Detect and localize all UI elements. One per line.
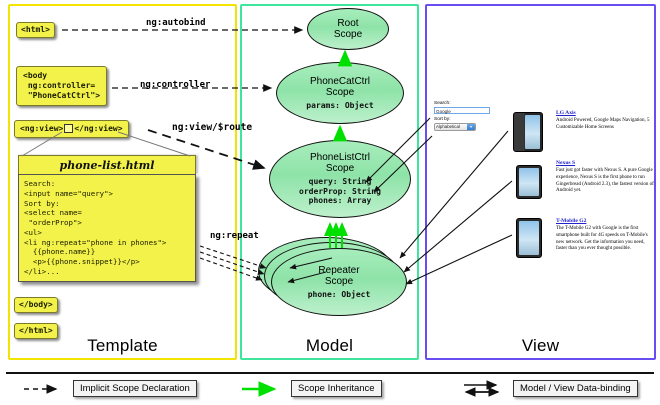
column-label-template: Template xyxy=(10,336,235,356)
phone-snippet: The T-Mobile G2 with Google is the first… xyxy=(556,226,654,253)
legend-green-arrow-icon xyxy=(240,383,284,395)
scope-repeater-title: Repeater Scope xyxy=(318,265,359,287)
phone-thumbnail-1 xyxy=(513,112,543,152)
search-label: Search: xyxy=(434,100,496,107)
tag-ng-view: <ng:view></ng:view> xyxy=(14,120,129,138)
tag-ng-view-open: <ng:view> xyxy=(20,124,63,133)
sort-label: Sort by: xyxy=(434,116,496,123)
phone-snippet: Android Powered, Google Maps Navigation,… xyxy=(556,118,654,132)
legend-label-inheritance: Scope Inheritance xyxy=(291,380,382,397)
tag-body-close: </body> xyxy=(14,297,58,313)
list-item: LG Axis Android Powered, Google Maps Nav… xyxy=(556,110,654,132)
legend: Implicit Scope Declaration Scope Inherit… xyxy=(0,372,660,405)
scope-repeater: Repeater Scope phone: Object xyxy=(271,248,407,316)
phone-link[interactable]: Nexus S xyxy=(556,160,654,166)
code-callout-title: phone-list.html xyxy=(18,155,196,174)
column-label-view: View xyxy=(427,336,654,356)
scope-phonecatctrl-props: params: Object xyxy=(306,101,373,111)
scope-phonecatctrl-title: PhoneCatCtrl Scope xyxy=(310,76,370,98)
tag-body-open: <body ng:controller= "PhoneCatCtrl"> xyxy=(16,66,107,106)
tag-ng-view-close: </ng:view> xyxy=(74,124,122,133)
scope-phonelistctrl: PhoneListCtrl Scope query: String orderP… xyxy=(269,140,411,218)
list-item: Nexus S Fast just got faster with Nexus … xyxy=(556,160,654,195)
scope-root: Root Scope xyxy=(307,8,389,50)
view-search-form: Search: Google Sort by: Alphabetical ▾ xyxy=(434,100,496,131)
list-item: T-Mobile G2 The T-Mobile G2 with Google … xyxy=(556,218,654,253)
sort-select-value: Alphabetical xyxy=(436,123,460,131)
label-ng-repeat: ng:repeat xyxy=(210,231,259,241)
legend-label-databinding: Model / View Data-binding xyxy=(513,380,638,397)
chevron-down-icon: ▾ xyxy=(467,124,475,130)
code-callout-body: Search: <input name="query"> Sort by: <s… xyxy=(18,174,196,282)
phone-thumbnail-2 xyxy=(516,165,542,199)
tag-html-close: </html> xyxy=(14,323,58,339)
legend-label-implicit: Implicit Scope Declaration xyxy=(73,380,197,397)
scope-phonelistctrl-props: query: String orderProp: String phones: … xyxy=(299,177,381,206)
legend-bidir-arrow-icon xyxy=(462,381,506,397)
scope-repeater-props: phone: Object xyxy=(308,290,371,300)
phone-thumbnail-3 xyxy=(516,218,542,258)
phone-link[interactable]: T-Mobile G2 xyxy=(556,218,654,224)
label-ng-view-route: ng:view/$route xyxy=(172,122,252,133)
scope-root-title: Root Scope xyxy=(334,18,362,40)
legend-dashed-arrow-icon xyxy=(22,383,66,395)
phone-snippet: Fast just got faster with Nexus S. A pur… xyxy=(556,168,654,195)
column-label-model: Model xyxy=(242,336,417,356)
code-callout: phone-list.html Search: <input name="que… xyxy=(18,155,196,282)
phone-link[interactable]: LG Axis xyxy=(556,110,654,116)
label-ng-autobind: ng:autobind xyxy=(146,18,206,28)
ng-view-placeholder-icon xyxy=(64,124,73,133)
diagram-root: Template Model View <html> <body ng:cont… xyxy=(0,0,660,405)
legend-item-implicit: Implicit Scope Declaration xyxy=(22,380,197,397)
scope-phonelistctrl-title: PhoneListCtrl Scope xyxy=(310,152,370,174)
label-ng-controller: ng:controller xyxy=(140,80,210,90)
search-input[interactable]: Google xyxy=(434,107,490,114)
legend-item-inheritance: Scope Inheritance xyxy=(240,380,382,397)
tag-html-open: <html> xyxy=(16,22,55,38)
sort-select[interactable]: Alphabetical ▾ xyxy=(434,123,476,131)
scope-phonecatctrl: PhoneCatCtrl Scope params: Object xyxy=(276,62,404,124)
legend-divider xyxy=(6,372,654,374)
legend-item-databinding: Model / View Data-binding xyxy=(462,380,638,397)
